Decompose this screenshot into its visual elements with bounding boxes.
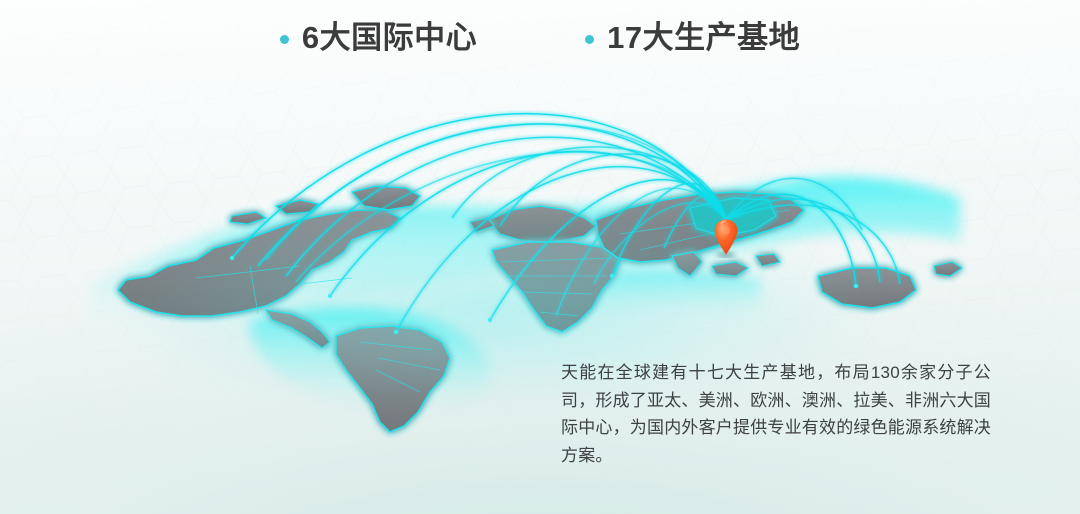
headline-item-bases: 17大生产基地 bbox=[585, 22, 800, 53]
headline-bases-label: 17大生产基地 bbox=[607, 22, 800, 53]
location-pin-icon[interactable] bbox=[713, 218, 739, 258]
continent-south-america bbox=[336, 326, 450, 432]
continent-australia bbox=[818, 262, 962, 308]
headline-group: 6大国际中心 17大生产基地 bbox=[0, 22, 1080, 53]
bullet-dot-icon bbox=[585, 35, 594, 44]
bullet-dot-icon bbox=[280, 35, 289, 44]
headline-centers-label: 6大国际中心 bbox=[302, 22, 477, 53]
headline-item-centers: 6大国际中心 bbox=[280, 22, 477, 53]
slide-canvas: 6大国际中心 17大生产基地 天能在全球建有十七大生产基地，布局130余家分子公… bbox=[0, 0, 1080, 514]
description-paragraph: 天能在全球建有十七大生产基地，布局130余家分子公司，形成了亚太、美洲、欧洲、澳… bbox=[561, 359, 991, 469]
